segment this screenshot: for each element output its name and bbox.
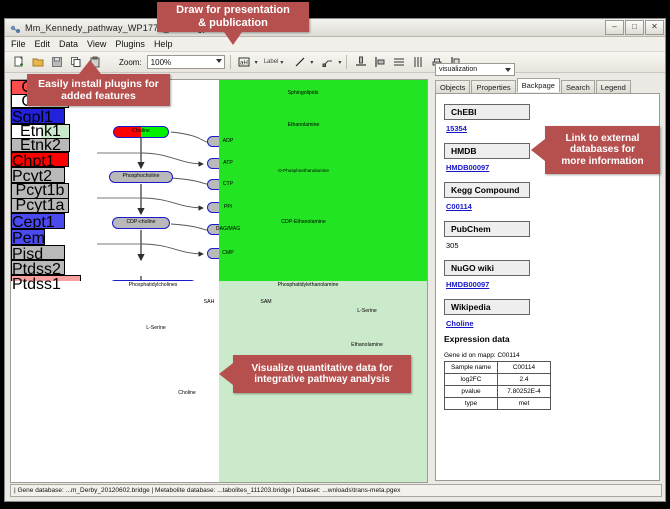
visualize-callout-line1: Visualize quantitative data for [252,363,393,375]
visualization-value: visualization [439,66,477,73]
db-header-kegg: Kegg Compound [444,182,530,198]
gene-row-pcyt1a[interactable]: Pcyt1a [12,199,68,213]
gene-row-etnk1[interactable]: Etnk1 [12,125,69,139]
link-callout-line3: more information [561,156,643,168]
gene-row-pcyt1b[interactable]: Pcyt1b [12,184,68,199]
menu-item-data[interactable]: Data [59,39,78,49]
draw-callout: Draw for presentation & publication [157,2,309,32]
datanode-dropdown-icon[interactable]: ▾ [255,59,258,66]
node-cdp-choline[interactable]: CDP-choline [112,217,170,229]
link-callout-line2: databases for [561,144,643,156]
screenshot-root: Mm_Kennedy_pathway_WP1771_45176.gpml – □… [0,0,670,509]
label-dropdown-icon[interactable]: ▾ [280,59,283,66]
gene-pisd[interactable]: Pisd [11,245,65,260]
table-row: type met [445,398,551,410]
gene-sgpl1[interactable]: Sgpl1 [11,108,65,124]
menu-bar: File Edit Data View Plugins Help [5,37,665,52]
exp-val-pvalue: 7.80252E-4 [498,386,551,398]
draw-callout-arrow-icon [224,32,242,45]
toolbar-separator [230,55,231,69]
db-link-kegg[interactable]: C00114 [446,202,651,211]
status-bar: | Gene database: ...m_Derby_20120602.bri… [10,484,662,497]
db-link-nugo[interactable]: HMDB00097 [446,280,651,289]
gene-pcyt2[interactable]: Pcyt2 [11,167,65,183]
exp-key-log2fc: log2FC [445,374,498,386]
db-header-chebi: ChEBI [444,104,530,120]
menu-item-file[interactable]: File [11,39,26,49]
db-header-wikipedia: Wikipedia [444,299,530,315]
exp-key-type: type [445,398,498,410]
align-top-icon[interactable] [352,54,369,71]
app-icon [9,22,21,34]
status-bar-text: | Gene database: ...m_Derby_20120602.bri… [11,487,400,494]
db-header-pubchem: PubChem [444,221,530,237]
zoom-value: 100% [151,58,171,67]
tab-properties[interactable]: Properties [471,80,515,93]
anchor-icon[interactable] [319,54,336,71]
align-left-icon[interactable] [371,54,388,71]
line-icon[interactable] [291,54,308,71]
gene-etnk1-etnk2[interactable]: Etnk1 Etnk2 [11,124,70,152]
new-icon[interactable] [10,54,27,71]
gene-pcyt1b-pcyt1a[interactable]: Pcyt1b Pcyt1a [11,183,69,213]
draw-callout-line2: & publication [176,17,290,30]
zoom-label: Zoom: [119,58,142,67]
db-value-pubchem: 305 [446,241,651,250]
window-controls: – □ ✕ [605,20,665,35]
plugins-callout-arrow-icon [79,60,101,74]
plugins-callout: Easily install plugins for added feature… [27,74,170,106]
gene-row-etnk2[interactable]: Etnk2 [12,139,69,152]
expression-table: Sample name C00114 log2FC 2.4 pvalue 7.8… [444,361,551,410]
table-row: log2FC 2.4 [445,374,551,386]
tab-backpage[interactable]: Backpage [517,78,560,92]
visualization-select[interactable]: visualization [435,63,515,76]
gene-cept1[interactable]: Cept1 [11,213,65,229]
gene-pemt[interactable]: Pemt [11,229,45,245]
tab-search[interactable]: Search [561,80,595,93]
plugins-callout-line1: Easily install plugins for [38,78,159,90]
db-header-hmdb: HMDB [444,143,530,159]
gene-ptdss2[interactable]: Ptdss2 [11,260,65,275]
zoom-select[interactable]: 100% [147,55,225,69]
plugins-callout-line2: added features [38,90,159,102]
visualize-callout-arrow-icon [219,363,233,385]
link-callout-line1: Link to external [561,133,643,145]
panel-tabs: Objects Properties Backpage Search Legen… [433,79,662,93]
maximize-button[interactable]: □ [625,20,644,35]
gene-id-line: Gene id on mapp: C00114 [444,352,651,359]
save-icon[interactable] [48,54,65,71]
visualize-callout: Visualize quantitative data for integrat… [233,355,411,393]
node-choline-top[interactable]: Choline [113,126,169,138]
menu-item-edit[interactable]: Edit [35,39,51,49]
db-header-nugo: NuGO wiki [444,260,530,276]
exp-key-sample: Sample name [445,362,498,374]
db-link-wikipedia[interactable]: Choline [446,319,651,328]
exp-val-type: met [498,398,551,410]
link-callout: Link to external databases for more info… [545,126,660,174]
table-row: Sample name C00114 [445,362,551,374]
link-callout-arrow-icon [531,139,545,161]
svg-text:aH: aH [240,61,248,67]
tab-legend[interactable]: Legend [596,80,631,93]
exp-val-log2fc: 2.4 [498,374,551,386]
anchor-dropdown-icon[interactable]: ▾ [338,59,341,66]
menu-item-plugins[interactable]: Plugins [115,39,145,49]
chevron-down-icon [505,68,511,72]
exp-val-sample: C00114 [498,362,551,374]
title-bar: Mm_Kennedy_pathway_WP1771_45176.gpml – □… [5,19,665,37]
line-dropdown-icon[interactable]: ▾ [310,59,313,66]
datanode-icon[interactable]: aH [236,54,253,71]
label-tool[interactable]: Label [264,59,279,65]
menu-item-view[interactable]: View [87,39,106,49]
exp-key-pvalue: pvalue [445,386,498,398]
node-phosphocholine[interactable]: Phosphocholine [109,171,173,183]
gene-chpt1[interactable]: Chpt1 [11,152,69,167]
expression-data-title: Expression data [444,334,651,344]
tab-objects[interactable]: Objects [435,80,470,93]
draw-callout-line1: Draw for presentation [176,4,290,17]
visualize-callout-line2: integrative pathway analysis [252,374,393,386]
chevron-down-icon [216,59,222,63]
toolbar: Zoom: 100% aH ▾ Label ▾ ▾ ▾ [5,52,665,73]
distribute-horizontal-icon[interactable] [409,54,426,71]
pathway-canvas[interactable]: Title: Availa Organ [10,79,428,483]
distribute-vertical-icon[interactable] [390,54,407,71]
minimize-button[interactable]: – [605,20,624,35]
menu-item-help[interactable]: Help [154,39,173,49]
table-row: pvalue 7.80252E-4 [445,386,551,398]
open-icon[interactable] [29,54,46,71]
gene-ptdss1[interactable]: Ptdss1 [11,275,81,292]
close-button[interactable]: ✕ [645,20,664,35]
toolbar-separator-2 [346,55,347,69]
